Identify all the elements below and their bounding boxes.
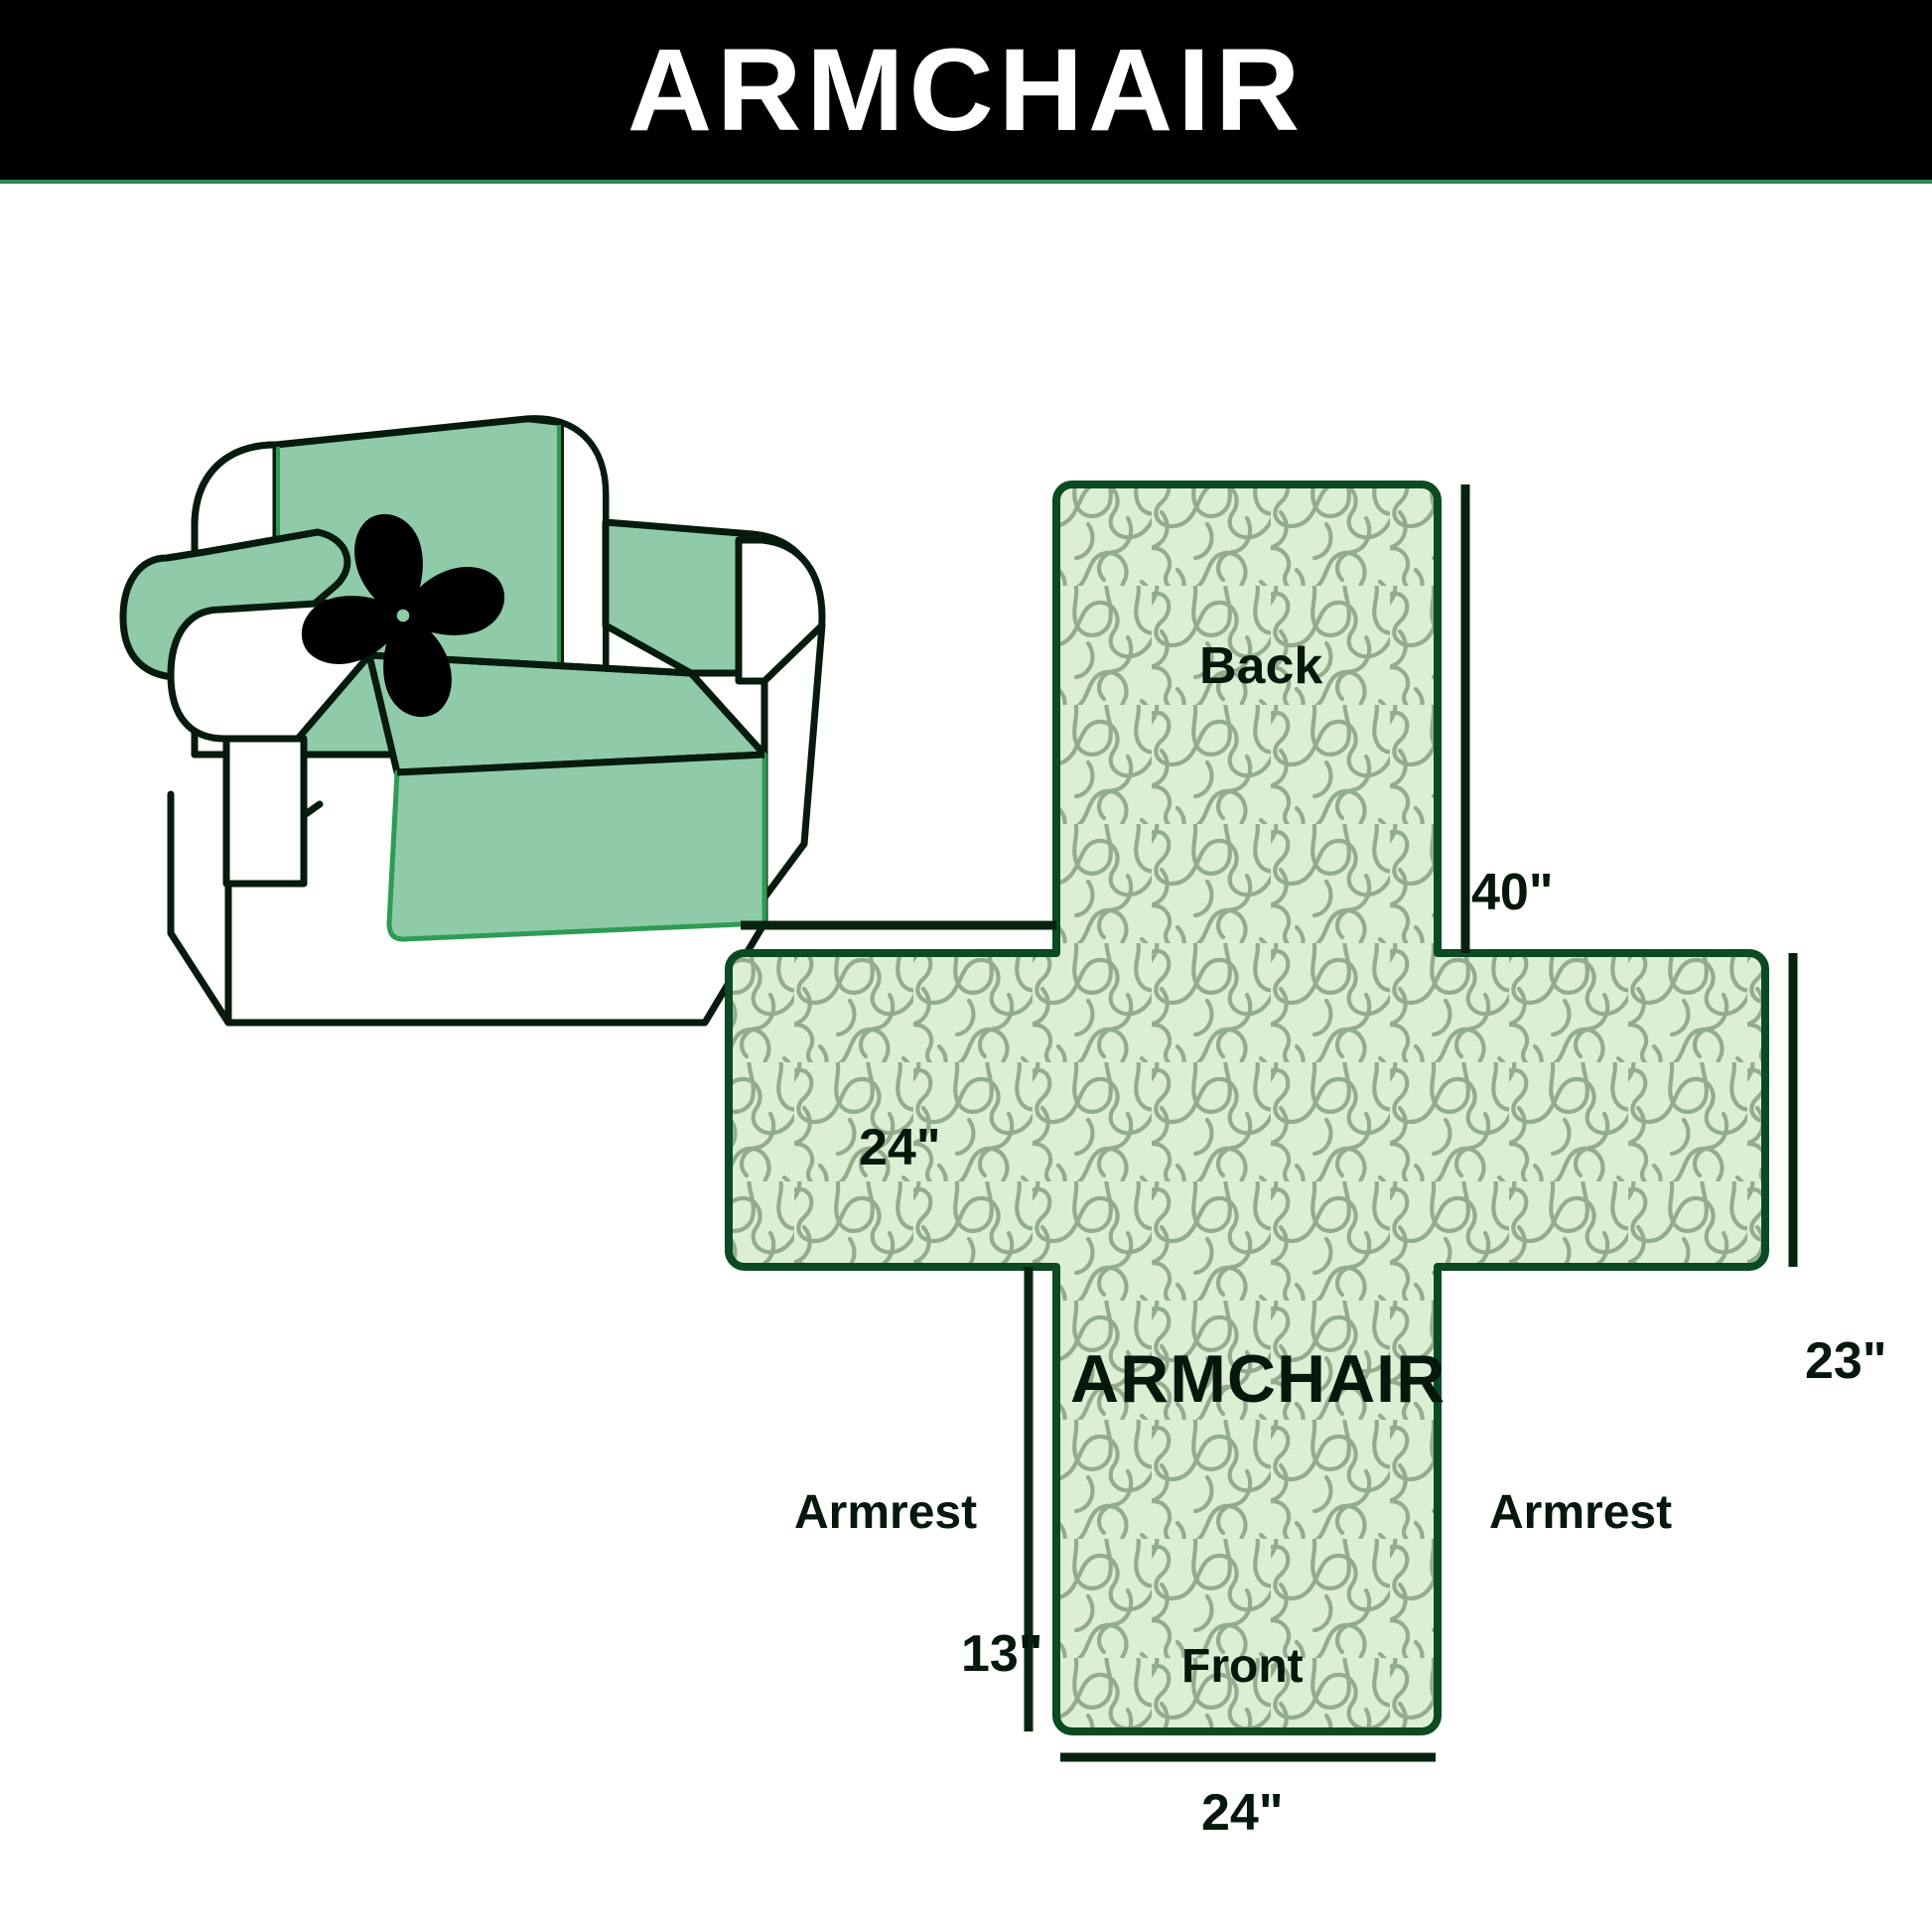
- panel-label-armrest-left: Armrest: [794, 1489, 977, 1537]
- page-root: ARMCHAIR: [0, 0, 1932, 1932]
- panel-label-front: Front: [1181, 1643, 1304, 1691]
- dimension-label-armrest-width: 24": [859, 1122, 941, 1173]
- panel-label-armrest-right: Armrest: [1489, 1489, 1672, 1537]
- page-title: ARMCHAIR: [627, 32, 1305, 149]
- panel-label-center: ARMCHAIR: [1070, 1345, 1446, 1413]
- dimension-label-front-drop: 13": [961, 1628, 1043, 1680]
- panel-label-back: Back: [1199, 640, 1322, 692]
- dimension-label-front-width: 24": [1201, 1787, 1284, 1839]
- dimension-label-back-length: 40": [1471, 867, 1554, 918]
- dimension-label-body-height: 23": [1805, 1335, 1887, 1387]
- header-banner: ARMCHAIR: [0, 0, 1932, 181]
- header-accent-rule: [0, 180, 1932, 184]
